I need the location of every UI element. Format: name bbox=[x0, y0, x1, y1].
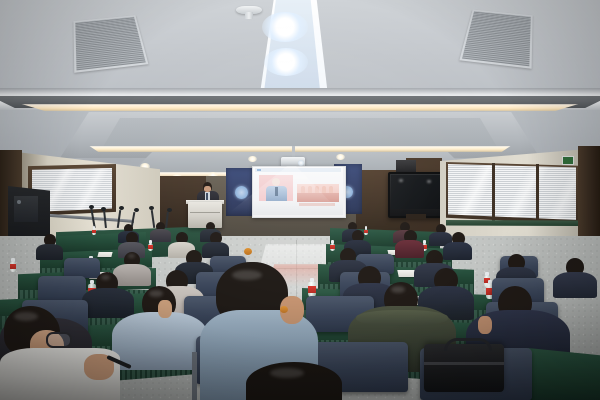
slide-image-left bbox=[259, 175, 293, 201]
presenter-tie bbox=[206, 193, 208, 200]
bottle-cap bbox=[149, 240, 152, 244]
presenter-face bbox=[204, 186, 211, 192]
bottle-label bbox=[10, 264, 16, 269]
monitor-glare bbox=[427, 180, 431, 183]
hair-highlight bbox=[391, 286, 405, 293]
ceiling-spotlight-lower bbox=[264, 48, 308, 76]
slide-header-bar bbox=[255, 168, 341, 172]
water-bottle bbox=[330, 240, 335, 251]
bottle-cap bbox=[310, 278, 314, 282]
slide-figure bbox=[322, 186, 326, 193]
slide-figure bbox=[315, 186, 319, 193]
slide-image-right bbox=[297, 184, 339, 202]
slide-caption-bar bbox=[299, 203, 335, 206]
podium bbox=[188, 202, 222, 228]
attendee-torso bbox=[82, 288, 134, 318]
chair-frame bbox=[192, 352, 197, 400]
laptop-bag-seam bbox=[424, 362, 504, 365]
bottle-cap bbox=[423, 240, 426, 244]
chair bbox=[64, 258, 100, 278]
slide-person-tie bbox=[275, 187, 278, 196]
laptop-bag-handle bbox=[444, 338, 492, 351]
microphone-head-icon bbox=[119, 206, 124, 210]
attendee-torso bbox=[553, 272, 597, 298]
microphone-head-icon bbox=[149, 206, 154, 210]
right-window-sill bbox=[446, 220, 580, 226]
attendee-torso bbox=[395, 240, 424, 258]
attendee-torso bbox=[150, 229, 171, 242]
exit-sign bbox=[562, 156, 574, 165]
bottle-cap bbox=[331, 240, 334, 244]
hair-highlight bbox=[128, 254, 135, 258]
hair-highlight bbox=[232, 270, 262, 280]
bottle-label bbox=[92, 230, 96, 233]
bottle-label bbox=[148, 245, 153, 249]
ceiling-spotlight-upper bbox=[262, 12, 308, 42]
water-bottle bbox=[364, 226, 368, 235]
slide-person-head bbox=[272, 178, 280, 186]
table-decoration bbox=[280, 306, 288, 313]
podium-trim bbox=[190, 212, 220, 213]
attendee-torso bbox=[443, 242, 472, 260]
slide-table bbox=[297, 193, 339, 202]
attendee-torso bbox=[36, 244, 63, 260]
downlight bbox=[336, 154, 345, 160]
smoke-detector-stem bbox=[245, 12, 253, 19]
microphone-head-icon bbox=[101, 207, 106, 211]
hair-highlight bbox=[101, 275, 110, 280]
bottle-cap bbox=[365, 226, 367, 230]
chair bbox=[38, 276, 86, 302]
microphone-head-icon bbox=[134, 208, 139, 212]
microphone-head-icon bbox=[89, 205, 94, 209]
equipment-cabinet-knob-icon bbox=[17, 200, 21, 204]
hair-highlight bbox=[149, 290, 163, 297]
ceiling-light-strip-2 bbox=[76, 146, 524, 152]
air-vent-left-icon bbox=[73, 15, 148, 73]
slide-figure bbox=[301, 186, 305, 193]
downlight bbox=[248, 156, 257, 162]
slide-figure bbox=[308, 186, 312, 193]
bottle-label bbox=[330, 245, 335, 249]
air-vent-right-icon bbox=[459, 10, 532, 69]
bottle-cap bbox=[485, 272, 488, 276]
hair-highlight bbox=[14, 312, 38, 321]
water-bottle bbox=[148, 240, 153, 251]
notepad bbox=[97, 252, 112, 257]
jacket-hood bbox=[356, 310, 448, 326]
bottle-cap bbox=[93, 226, 95, 230]
slide-header-dot-icon bbox=[257, 169, 261, 171]
eyeglasses-icon bbox=[46, 332, 72, 348]
wall-emblem-left-icon bbox=[235, 186, 248, 199]
wall-monitor-shelf bbox=[406, 214, 426, 219]
bottle-cap bbox=[11, 258, 14, 262]
slide-figure bbox=[329, 186, 333, 193]
conference-room-photo bbox=[0, 0, 600, 400]
water-bottle bbox=[92, 226, 96, 235]
ceiling-light-strip-1 bbox=[10, 104, 590, 111]
bottle-label bbox=[364, 230, 368, 233]
projection-screen bbox=[253, 167, 343, 215]
attendee-torso bbox=[113, 264, 151, 286]
table-decoration bbox=[244, 248, 252, 255]
attendee-hand bbox=[158, 300, 172, 318]
hair-highlight bbox=[270, 368, 304, 378]
smoke-detector-icon bbox=[236, 6, 262, 19]
attendee-hand bbox=[478, 316, 492, 334]
right-window-mullion bbox=[492, 163, 495, 221]
water-bottle bbox=[308, 278, 316, 297]
laptop-bag bbox=[424, 344, 504, 392]
right-window-glare bbox=[448, 164, 576, 220]
right-window-mullion bbox=[536, 164, 539, 222]
microphone-head-icon bbox=[167, 208, 172, 212]
table-row bbox=[528, 348, 600, 400]
wall-monitor-screen bbox=[391, 175, 441, 209]
monitor-glare bbox=[399, 179, 403, 182]
bottle-cap bbox=[90, 280, 94, 284]
bottle-label bbox=[308, 286, 316, 293]
water-bottle bbox=[10, 258, 16, 272]
